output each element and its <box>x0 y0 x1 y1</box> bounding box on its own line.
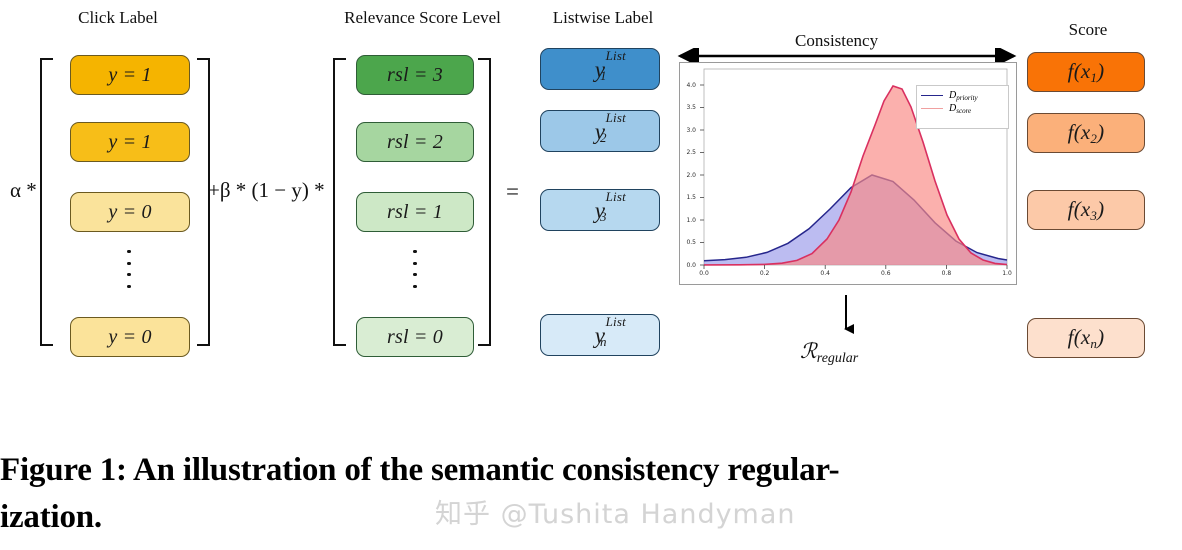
y-tick-7: 3.5 <box>678 104 696 111</box>
x-tick-marks <box>704 265 1007 269</box>
click-label-box-2-text: y = 1 <box>108 131 151 154</box>
y-tick-0: 0.0 <box>678 262 696 269</box>
regularizer-subscript: regular <box>817 351 858 366</box>
bracket-left-click-label <box>40 58 53 346</box>
rsl-box-1[interactable]: rsl = 3 <box>356 55 474 95</box>
score-box-3-text: f(x3) <box>1068 197 1105 224</box>
y-tick-3: 1.5 <box>678 194 696 201</box>
rsl-box-2[interactable]: rsl = 2 <box>356 122 474 162</box>
score-box-2[interactable]: f(x2) <box>1027 113 1145 153</box>
x-tick-0: 0.0 <box>694 270 714 277</box>
y-tick-5: 2.5 <box>678 149 696 156</box>
click-label-box-3[interactable]: y = 0 <box>70 192 190 232</box>
column-title-click-label: Click Label <box>38 8 198 28</box>
legend-swatch-d-priority <box>921 95 943 97</box>
legend-item-d-score: Dscore <box>921 102 1003 115</box>
bracket-right-rsl <box>478 58 491 346</box>
figure-caption: Figure 1: An illustration of the semanti… <box>0 447 1182 541</box>
score-box-1[interactable]: f(x1) <box>1027 52 1145 92</box>
chart-legend: Dpriority Dscore <box>916 85 1009 129</box>
listwise-box-2-text: y2List <box>595 120 605 143</box>
click-label-box-n[interactable]: y = 0 <box>70 317 190 357</box>
rsl-box-n[interactable]: rsl = 0 <box>356 317 474 357</box>
x-tick-4: 0.8 <box>936 270 956 277</box>
bracket-left-rsl <box>333 58 346 346</box>
consistency-distribution-chart: 0.0 0.5 1.0 1.5 2.0 2.5 3.0 3.5 4.0 0.0 … <box>679 62 1017 285</box>
operator-equals: = <box>506 179 519 205</box>
regularizer-symbol: ℛ <box>800 339 817 363</box>
column-title-listwise-label: Listwise Label <box>523 8 683 28</box>
score-box-3[interactable]: f(x3) <box>1027 190 1145 230</box>
column-title-relevance-score-level: Relevance Score Level <box>320 8 525 28</box>
operator-beta: +β * (1 − y) * <box>208 178 325 203</box>
x-tick-1: 0.2 <box>755 270 775 277</box>
click-label-box-3-text: y = 0 <box>108 201 151 224</box>
x-tick-2: 0.4 <box>815 270 835 277</box>
x-tick-3: 0.6 <box>876 270 896 277</box>
listwise-box-3[interactable]: y3List <box>540 189 660 231</box>
score-box-2-text: f(x2) <box>1068 120 1105 147</box>
y-tick-8: 4.0 <box>678 82 696 89</box>
rsl-box-1-text: rsl = 3 <box>387 64 443 87</box>
legend-swatch-d-score <box>921 108 943 110</box>
x-tick-5: 1.0 <box>997 270 1017 277</box>
operator-alpha: α * <box>10 178 37 203</box>
click-label-box-2[interactable]: y = 1 <box>70 122 190 162</box>
figure-caption-line-1: Figure 1: An illustration of the semanti… <box>0 447 1182 494</box>
legend-item-d-priority: Dpriority <box>921 89 1003 102</box>
rsl-box-2-text: rsl = 2 <box>387 131 443 154</box>
listwise-box-2[interactable]: y2List <box>540 110 660 152</box>
score-box-1-text: f(x1) <box>1068 59 1105 86</box>
listwise-box-3-text: y3List <box>595 199 605 222</box>
score-box-n[interactable]: f(xn) <box>1027 318 1145 358</box>
bracket-right-click-label <box>197 58 210 346</box>
rsl-box-n-text: rsl = 0 <box>387 326 443 349</box>
y-tick-2: 1.0 <box>678 217 696 224</box>
rsl-box-3-text: rsl = 1 <box>387 201 443 224</box>
click-label-box-1-text: y = 1 <box>108 64 151 87</box>
listwise-box-n-text: ynList <box>595 324 605 347</box>
score-box-n-text: f(xn) <box>1068 325 1105 352</box>
figure-caption-line-2: ization. <box>0 494 1182 541</box>
down-arrow-icon <box>838 295 854 337</box>
rsl-ellipsis <box>412 250 418 288</box>
y-tick-4: 2.0 <box>678 172 696 179</box>
listwise-box-1[interactable]: y1List <box>540 48 660 90</box>
regularizer-term: ℛregular <box>800 339 858 367</box>
click-label-box-1[interactable]: y = 1 <box>70 55 190 95</box>
legend-label-d-score: Dscore <box>949 103 971 115</box>
y-tick-6: 3.0 <box>678 127 696 134</box>
legend-label-d-priority: Dpriority <box>949 90 978 102</box>
listwise-box-1-text: y1List <box>595 58 605 81</box>
click-label-box-n-text: y = 0 <box>108 326 151 349</box>
y-tick-1: 0.5 <box>678 239 696 246</box>
listwise-box-n[interactable]: ynList <box>540 314 660 356</box>
rsl-box-3[interactable]: rsl = 1 <box>356 192 474 232</box>
y-tick-marks <box>700 85 704 265</box>
click-label-ellipsis <box>126 250 132 288</box>
column-title-score: Score <box>1040 20 1136 40</box>
figure-canvas: Click Label Relevance Score Level Listwi… <box>0 0 1182 550</box>
